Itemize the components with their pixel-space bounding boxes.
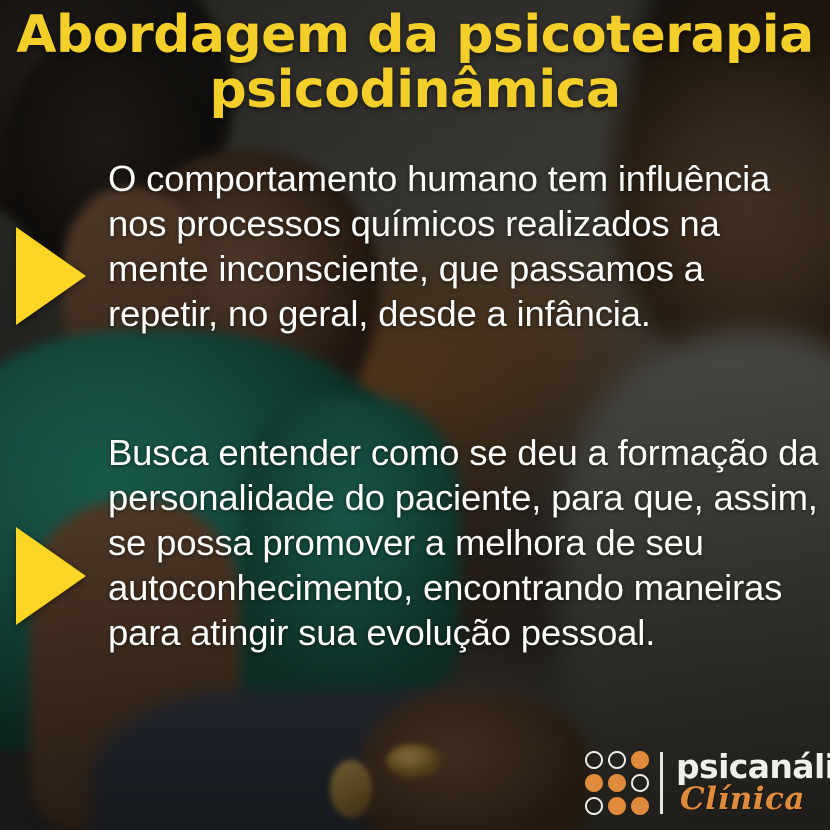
logo-dot-open-r2c3 bbox=[631, 774, 649, 792]
card-title-line-2: psicodinâmica bbox=[10, 63, 820, 118]
logo-dot-fill-r2c2 bbox=[608, 774, 626, 792]
logo-wordmark: psicanálise Clínica bbox=[676, 750, 830, 815]
logo-divider bbox=[660, 752, 663, 814]
logo-dot-fill-r2c1 bbox=[585, 774, 603, 792]
brand-logo: psicanálise Clínica bbox=[585, 750, 830, 815]
card-title-line-1: Abordagem da psicoterapia bbox=[10, 8, 820, 63]
logo-dot-open-r1c2 bbox=[608, 751, 626, 769]
logo-dot-open-r1c1 bbox=[585, 751, 603, 769]
psychotherapy-infographic-card: Abordagem da psicoterapia psicodinâmica … bbox=[0, 0, 830, 830]
logo-dot-fill-r3c2 bbox=[608, 797, 626, 815]
card-content: Abordagem da psicoterapia psicodinâmica … bbox=[0, 0, 830, 830]
bullet-paragraph-1: O comportamento humano tem influência no… bbox=[108, 156, 820, 336]
bullet-paragraph-2: Busca entender como se deu a formação da… bbox=[108, 430, 820, 655]
logo-dot-grid-icon bbox=[585, 751, 649, 815]
logo-dot-fill-r3c3 bbox=[631, 797, 649, 815]
card-title: Abordagem da psicoterapia psicodinâmica bbox=[0, 8, 830, 118]
logo-brand-secondary: Clínica bbox=[680, 784, 830, 815]
triangle-right-icon bbox=[16, 527, 86, 625]
logo-brand-primary: psicanálise bbox=[676, 750, 830, 783]
logo-dot-open-r3c1 bbox=[585, 797, 603, 815]
logo-dot-fill-r1c3 bbox=[631, 751, 649, 769]
triangle-right-icon bbox=[16, 227, 86, 325]
